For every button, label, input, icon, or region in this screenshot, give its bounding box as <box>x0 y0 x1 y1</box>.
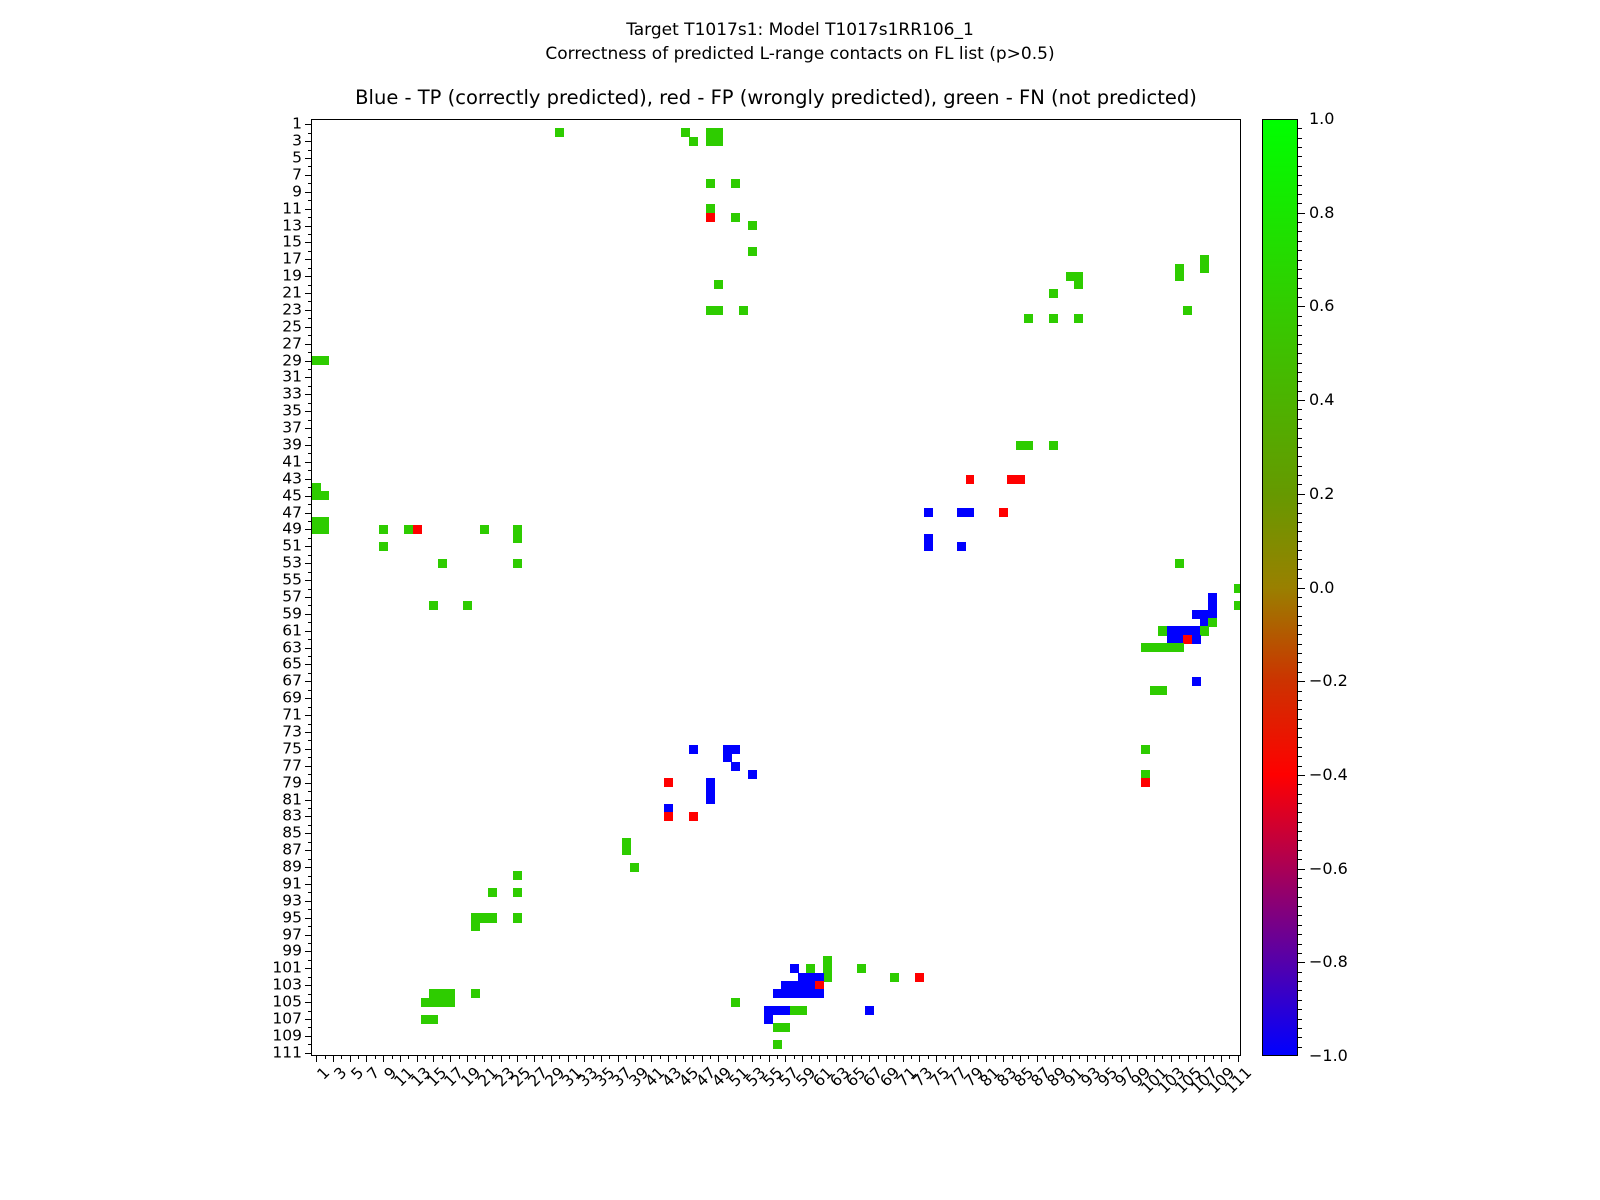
colorbar-tick <box>1298 775 1305 776</box>
colorbar-minor-tick <box>1298 616 1302 617</box>
y-tick <box>308 656 312 657</box>
colorbar-minor-tick <box>1298 803 1302 804</box>
y-tick-label: 67 <box>282 674 302 690</box>
contact-cell-fn <box>748 221 757 230</box>
colorbar-minor-tick <box>1298 316 1302 317</box>
colorbar-minor-tick <box>1298 653 1302 654</box>
contact-cell-fn <box>731 213 740 222</box>
y-tick <box>308 690 312 691</box>
contact-cell-fn <box>379 542 388 551</box>
x-tick <box>1171 1055 1172 1062</box>
y-tick <box>305 901 312 902</box>
colorbar-tick-label: −0.4 <box>1309 767 1348 783</box>
contact-cell-fn <box>1208 618 1217 627</box>
contact-cell-fp <box>1016 475 1025 484</box>
colorbar-minor-tick <box>1298 719 1302 720</box>
contact-cell-fn <box>1049 314 1058 323</box>
colorbar-minor-tick <box>1298 550 1302 551</box>
y-tick <box>308 572 312 573</box>
y-tick-label: 25 <box>282 319 302 335</box>
y-tick-label: 13 <box>282 218 302 234</box>
y-tick <box>308 673 312 674</box>
x-tick <box>1070 1055 1071 1062</box>
y-tick <box>308 740 312 741</box>
y-tick <box>308 420 312 421</box>
y-tick <box>305 1002 312 1003</box>
y-tick <box>305 985 312 986</box>
x-tick <box>710 1055 711 1059</box>
contact-cell-tp <box>865 1006 874 1015</box>
contact-cell-fn <box>446 998 455 1007</box>
y-tick <box>305 209 312 210</box>
y-tick-label: 11 <box>282 201 302 217</box>
y-tick <box>308 1027 312 1028</box>
colorbar-minor-tick <box>1298 737 1302 738</box>
colorbar-tick <box>1298 400 1305 401</box>
y-tick-label: 61 <box>282 623 302 639</box>
x-tick <box>794 1055 795 1059</box>
x-tick <box>325 1055 326 1059</box>
x-tick <box>442 1055 443 1059</box>
y-tick-label: 63 <box>282 640 302 656</box>
y-tick <box>305 867 312 868</box>
x-tick <box>626 1055 627 1059</box>
contact-cell-fn <box>480 525 489 534</box>
y-tick <box>308 808 312 809</box>
x-tick <box>869 1055 870 1062</box>
contact-cell-tp <box>706 795 715 804</box>
contact-cell-fp <box>413 525 422 534</box>
colorbar-minor-tick <box>1298 944 1302 945</box>
contact-cell-fn <box>513 913 522 922</box>
y-tick-label: 39 <box>282 437 302 453</box>
colorbar-minor-tick <box>1298 222 1302 223</box>
x-tick <box>861 1055 862 1059</box>
colorbar-minor-tick <box>1298 363 1302 364</box>
y-tick-label: 27 <box>282 336 302 352</box>
colorbar-minor-tick <box>1298 906 1302 907</box>
y-tick <box>305 496 312 497</box>
y-tick <box>305 614 312 615</box>
colorbar-tick-label: 0.2 <box>1309 486 1334 502</box>
x-tick <box>852 1055 853 1062</box>
contact-cell-fn <box>739 306 748 315</box>
y-tick <box>305 1019 312 1020</box>
colorbar-minor-tick <box>1298 625 1302 626</box>
x-tick <box>459 1055 460 1059</box>
y-tick <box>308 960 312 961</box>
contact-cell-fn <box>488 888 497 897</box>
colorbar-minor-tick <box>1298 391 1302 392</box>
colorbar-minor-tick <box>1298 1000 1302 1001</box>
x-tick <box>903 1055 904 1062</box>
y-tick <box>308 437 312 438</box>
colorbar-minor-tick <box>1298 794 1302 795</box>
colorbar-minor-tick <box>1298 672 1302 673</box>
y-tick-label: 21 <box>282 285 302 301</box>
contact-cell-tp <box>1192 635 1201 644</box>
contact-cell-fn <box>798 1006 807 1015</box>
colorbar-minor-tick <box>1298 897 1302 898</box>
contact-cell-fn <box>379 525 388 534</box>
x-tick <box>928 1055 929 1059</box>
colorbar-tick <box>1298 681 1305 682</box>
y-tick-label: 97 <box>282 927 302 943</box>
y-tick <box>308 369 312 370</box>
contact-cell-fn <box>471 922 480 931</box>
y-tick-label: 17 <box>282 252 302 268</box>
x-tick-label: 3 <box>332 1065 350 1083</box>
x-tick <box>576 1055 577 1059</box>
colorbar-tick-label: −0.8 <box>1309 954 1348 970</box>
y-tick <box>305 951 312 952</box>
y-tick <box>305 648 312 649</box>
y-tick-label: 103 <box>272 977 302 993</box>
x-tick <box>484 1055 485 1062</box>
colorbar-gradient <box>1262 119 1298 1056</box>
colorbar-minor-tick <box>1298 175 1302 176</box>
y-tick-label: 89 <box>282 859 302 875</box>
x-tick <box>735 1055 736 1062</box>
y-tick <box>308 268 312 269</box>
contact-cell-fn <box>1024 314 1033 323</box>
x-tick <box>1162 1055 1163 1059</box>
y-tick <box>305 698 312 699</box>
y-tick <box>305 344 312 345</box>
colorbar-minor-tick <box>1298 325 1302 326</box>
colorbar-minor-tick <box>1298 691 1302 692</box>
x-tick <box>1003 1055 1004 1062</box>
colorbar-minor-tick <box>1298 128 1302 129</box>
y-tick <box>308 825 312 826</box>
y-tick <box>305 597 312 598</box>
contact-cell-fp <box>915 973 924 982</box>
contact-cell-fn <box>1158 686 1167 695</box>
y-tick-label: 65 <box>282 657 302 673</box>
x-tick <box>844 1055 845 1059</box>
x-tick <box>417 1055 418 1062</box>
contact-cell-fn <box>1175 559 1184 568</box>
x-tick <box>375 1055 376 1059</box>
y-tick <box>305 1053 312 1054</box>
contact-cell-fn <box>1175 272 1184 281</box>
axes-title-legend: Blue - TP (correctly predicted), red - F… <box>311 86 1241 109</box>
y-tick <box>305 428 312 429</box>
contact-cell-fp <box>689 812 698 821</box>
colorbar-minor-tick <box>1298 297 1302 298</box>
figure-suptitle: Target T1017s1: Model T1017s1RR106_1 Cor… <box>0 18 1600 66</box>
y-tick <box>308 318 312 319</box>
colorbar-minor-tick <box>1298 578 1302 579</box>
x-tick <box>970 1055 971 1062</box>
y-tick <box>305 310 312 311</box>
colorbar-minor-tick <box>1298 288 1302 289</box>
x-tick <box>676 1055 677 1059</box>
y-tick-label: 79 <box>282 775 302 791</box>
x-tick <box>1012 1055 1013 1059</box>
y-tick <box>305 242 312 243</box>
colorbar-minor-tick <box>1298 260 1302 261</box>
colorbar-minor-tick <box>1298 644 1302 645</box>
colorbar-minor-tick <box>1298 438 1302 439</box>
y-tick <box>305 529 312 530</box>
x-tick <box>1146 1055 1147 1059</box>
contact-cell-fn <box>438 559 447 568</box>
colorbar-minor-tick <box>1298 503 1302 504</box>
y-tick <box>305 361 312 362</box>
colorbar-minor-tick <box>1298 147 1302 148</box>
x-tick <box>316 1055 317 1062</box>
y-tick <box>308 977 312 978</box>
y-tick <box>308 555 312 556</box>
colorbar-minor-tick <box>1298 381 1302 382</box>
y-tick <box>305 411 312 412</box>
x-tick <box>450 1055 451 1062</box>
colorbar-minor-tick <box>1298 831 1302 832</box>
contact-cell-fn <box>857 964 866 973</box>
y-tick-label: 59 <box>282 606 302 622</box>
y-tick <box>305 445 312 446</box>
colorbar-tick-label: 0.0 <box>1309 580 1334 596</box>
y-tick <box>308 876 312 877</box>
x-tick <box>433 1055 434 1062</box>
colorbar-minor-tick <box>1298 484 1302 485</box>
y-tick <box>305 681 312 682</box>
y-tick-label: 55 <box>282 572 302 588</box>
contact-cell-fn <box>1074 314 1083 323</box>
contact-map-cells <box>312 120 1240 1055</box>
x-tick <box>660 1055 661 1059</box>
contact-cell-fn <box>773 1040 782 1049</box>
colorbar-minor-tick <box>1298 156 1302 157</box>
contact-cell-fn <box>1049 289 1058 298</box>
colorbar-tick <box>1298 494 1305 495</box>
y-tick <box>308 724 312 725</box>
y-tick <box>308 217 312 218</box>
x-tick-label: 1 <box>315 1065 333 1083</box>
y-tick <box>308 622 312 623</box>
colorbar-minor-tick <box>1298 925 1302 926</box>
contact-cell-fn <box>555 128 564 137</box>
y-tick <box>305 968 312 969</box>
y-tick-label: 99 <box>282 944 302 960</box>
x-tick <box>609 1055 610 1059</box>
contact-cell-fn <box>1175 643 1184 652</box>
x-tick <box>408 1055 409 1059</box>
x-tick <box>366 1055 367 1062</box>
colorbar-minor-tick <box>1298 203 1302 204</box>
y-tick <box>308 133 312 134</box>
y-tick <box>308 487 312 488</box>
x-tick <box>618 1055 619 1062</box>
x-tick <box>584 1055 585 1062</box>
x-tick <box>995 1055 996 1059</box>
y-tick-label: 107 <box>272 1011 302 1027</box>
contact-cell-fn <box>471 989 480 998</box>
y-tick <box>308 150 312 151</box>
colorbar-minor-tick <box>1298 428 1302 429</box>
y-tick-label: 45 <box>282 488 302 504</box>
x-tick <box>526 1055 527 1059</box>
y-tick <box>308 842 312 843</box>
colorbar-minor-tick <box>1298 419 1302 420</box>
y-tick <box>305 783 312 784</box>
x-tick <box>718 1055 719 1062</box>
x-tick <box>1179 1055 1180 1059</box>
x-tick <box>501 1055 502 1062</box>
y-tick-label: 41 <box>282 454 302 470</box>
x-tick <box>509 1055 510 1059</box>
colorbar-minor-tick <box>1298 934 1302 935</box>
x-tick <box>559 1055 560 1059</box>
contact-cell-fn <box>823 973 832 982</box>
colorbar-minor-tick <box>1298 728 1302 729</box>
y-tick-label: 47 <box>282 505 302 521</box>
colorbar-tick-label: −0.6 <box>1309 861 1348 877</box>
contact-cell-fn <box>320 356 329 365</box>
colorbar-minor-tick <box>1298 1019 1302 1020</box>
colorbar-minor-tick <box>1298 756 1302 757</box>
y-tick <box>305 124 312 125</box>
x-tick <box>341 1055 342 1059</box>
x-tick <box>1121 1055 1122 1062</box>
contact-cell-fn <box>513 888 522 897</box>
contact-cell-fn <box>622 846 631 855</box>
y-tick <box>305 293 312 294</box>
x-tick <box>1028 1055 1029 1059</box>
contact-cell-fn <box>463 601 472 610</box>
y-tick <box>308 521 312 522</box>
x-tick <box>1196 1055 1197 1059</box>
y-tick <box>308 453 312 454</box>
y-tick-label: 69 <box>282 690 302 706</box>
x-tick <box>1045 1055 1046 1059</box>
y-tick <box>305 192 312 193</box>
contact-cell-fn <box>731 179 740 188</box>
y-tick-label: 91 <box>282 876 302 892</box>
x-tick <box>1053 1055 1054 1062</box>
colorbar-minor-tick <box>1298 850 1302 851</box>
contact-cell-fn <box>1234 584 1240 593</box>
y-tick-label: 9 <box>292 184 302 200</box>
x-tick <box>802 1055 803 1062</box>
suptitle-line-1: Target T1017s1: Model T1017s1RR106_1 <box>0 18 1600 42</box>
y-tick <box>308 1044 312 1045</box>
colorbar-minor-tick <box>1298 278 1302 279</box>
y-tick-label: 87 <box>282 842 302 858</box>
x-tick <box>819 1055 820 1062</box>
contact-cell-fn <box>714 280 723 289</box>
colorbar-minor-tick <box>1298 915 1302 916</box>
colorbar-minor-tick <box>1298 409 1302 410</box>
y-tick <box>308 352 312 353</box>
y-tick <box>308 605 312 606</box>
colorbar-minor-tick <box>1298 709 1302 710</box>
contact-cell-fn <box>1200 626 1209 635</box>
x-tick <box>1221 1055 1222 1062</box>
y-tick <box>305 259 312 260</box>
y-tick <box>308 943 312 944</box>
contact-cell-fn <box>731 998 740 1007</box>
y-tick <box>308 183 312 184</box>
x-tick <box>1087 1055 1088 1062</box>
y-tick <box>308 335 312 336</box>
contact-cell-fp <box>664 778 673 787</box>
x-tick <box>542 1055 543 1059</box>
contact-cell-tp <box>957 542 966 551</box>
contact-cell-fn <box>1234 601 1240 610</box>
colorbar-minor-tick <box>1298 981 1302 982</box>
y-tick <box>308 403 312 404</box>
colorbar-minor-tick <box>1298 597 1302 598</box>
contact-cell-fn <box>714 306 723 315</box>
y-tick-label: 85 <box>282 826 302 842</box>
y-tick <box>305 749 312 750</box>
contact-cell-fn <box>689 137 698 146</box>
y-tick-label: 101 <box>272 961 302 977</box>
y-tick-label: 37 <box>282 420 302 436</box>
colorbar-tick-label: −1.0 <box>1309 1048 1348 1064</box>
x-tick <box>1129 1055 1130 1059</box>
x-tick <box>1020 1055 1021 1062</box>
x-tick <box>492 1055 493 1059</box>
y-tick <box>305 884 312 885</box>
x-tick <box>1037 1055 1038 1062</box>
contact-cell-fp <box>966 475 975 484</box>
colorbar-tick <box>1298 869 1305 870</box>
contact-cell-fp <box>999 508 1008 517</box>
y-tick <box>308 200 312 201</box>
x-tick <box>693 1055 694 1059</box>
contact-cell-fn <box>513 559 522 568</box>
x-tick <box>961 1055 962 1059</box>
y-tick <box>308 707 312 708</box>
colorbar-minor-tick <box>1298 859 1302 860</box>
x-tick <box>945 1055 946 1059</box>
y-tick <box>308 994 312 995</box>
colorbar-minor-tick <box>1298 634 1302 635</box>
x-tick <box>878 1055 879 1059</box>
colorbar-minor-tick <box>1298 353 1302 354</box>
y-tick <box>308 285 312 286</box>
y-tick-label: 29 <box>282 353 302 369</box>
colorbar-tick <box>1298 213 1305 214</box>
x-tick <box>936 1055 937 1062</box>
colorbar-tick <box>1298 306 1305 307</box>
colorbar-minor-tick <box>1298 972 1302 973</box>
y-tick <box>308 234 312 235</box>
x-tick <box>1229 1055 1230 1059</box>
y-tick <box>305 833 312 834</box>
x-tick <box>475 1055 476 1059</box>
y-tick <box>305 377 312 378</box>
y-tick <box>305 394 312 395</box>
colorbar-minor-tick <box>1298 840 1302 841</box>
contact-cell-fn <box>714 137 723 146</box>
x-tick <box>651 1055 652 1062</box>
colorbar-minor-tick <box>1298 878 1302 879</box>
colorbar: 1.00.80.60.40.20.0−0.2−0.4−0.6−0.8−1.0 <box>1262 119 1298 1056</box>
y-tick-label: 73 <box>282 724 302 740</box>
x-tick <box>1112 1055 1113 1059</box>
colorbar-minor-tick <box>1298 166 1302 167</box>
y-tick-label: 111 <box>272 1045 302 1061</box>
colorbar-minor-tick <box>1298 812 1302 813</box>
y-tick <box>308 909 312 910</box>
y-tick-label: 19 <box>282 268 302 284</box>
x-tick <box>392 1055 393 1059</box>
y-tick <box>308 504 312 505</box>
